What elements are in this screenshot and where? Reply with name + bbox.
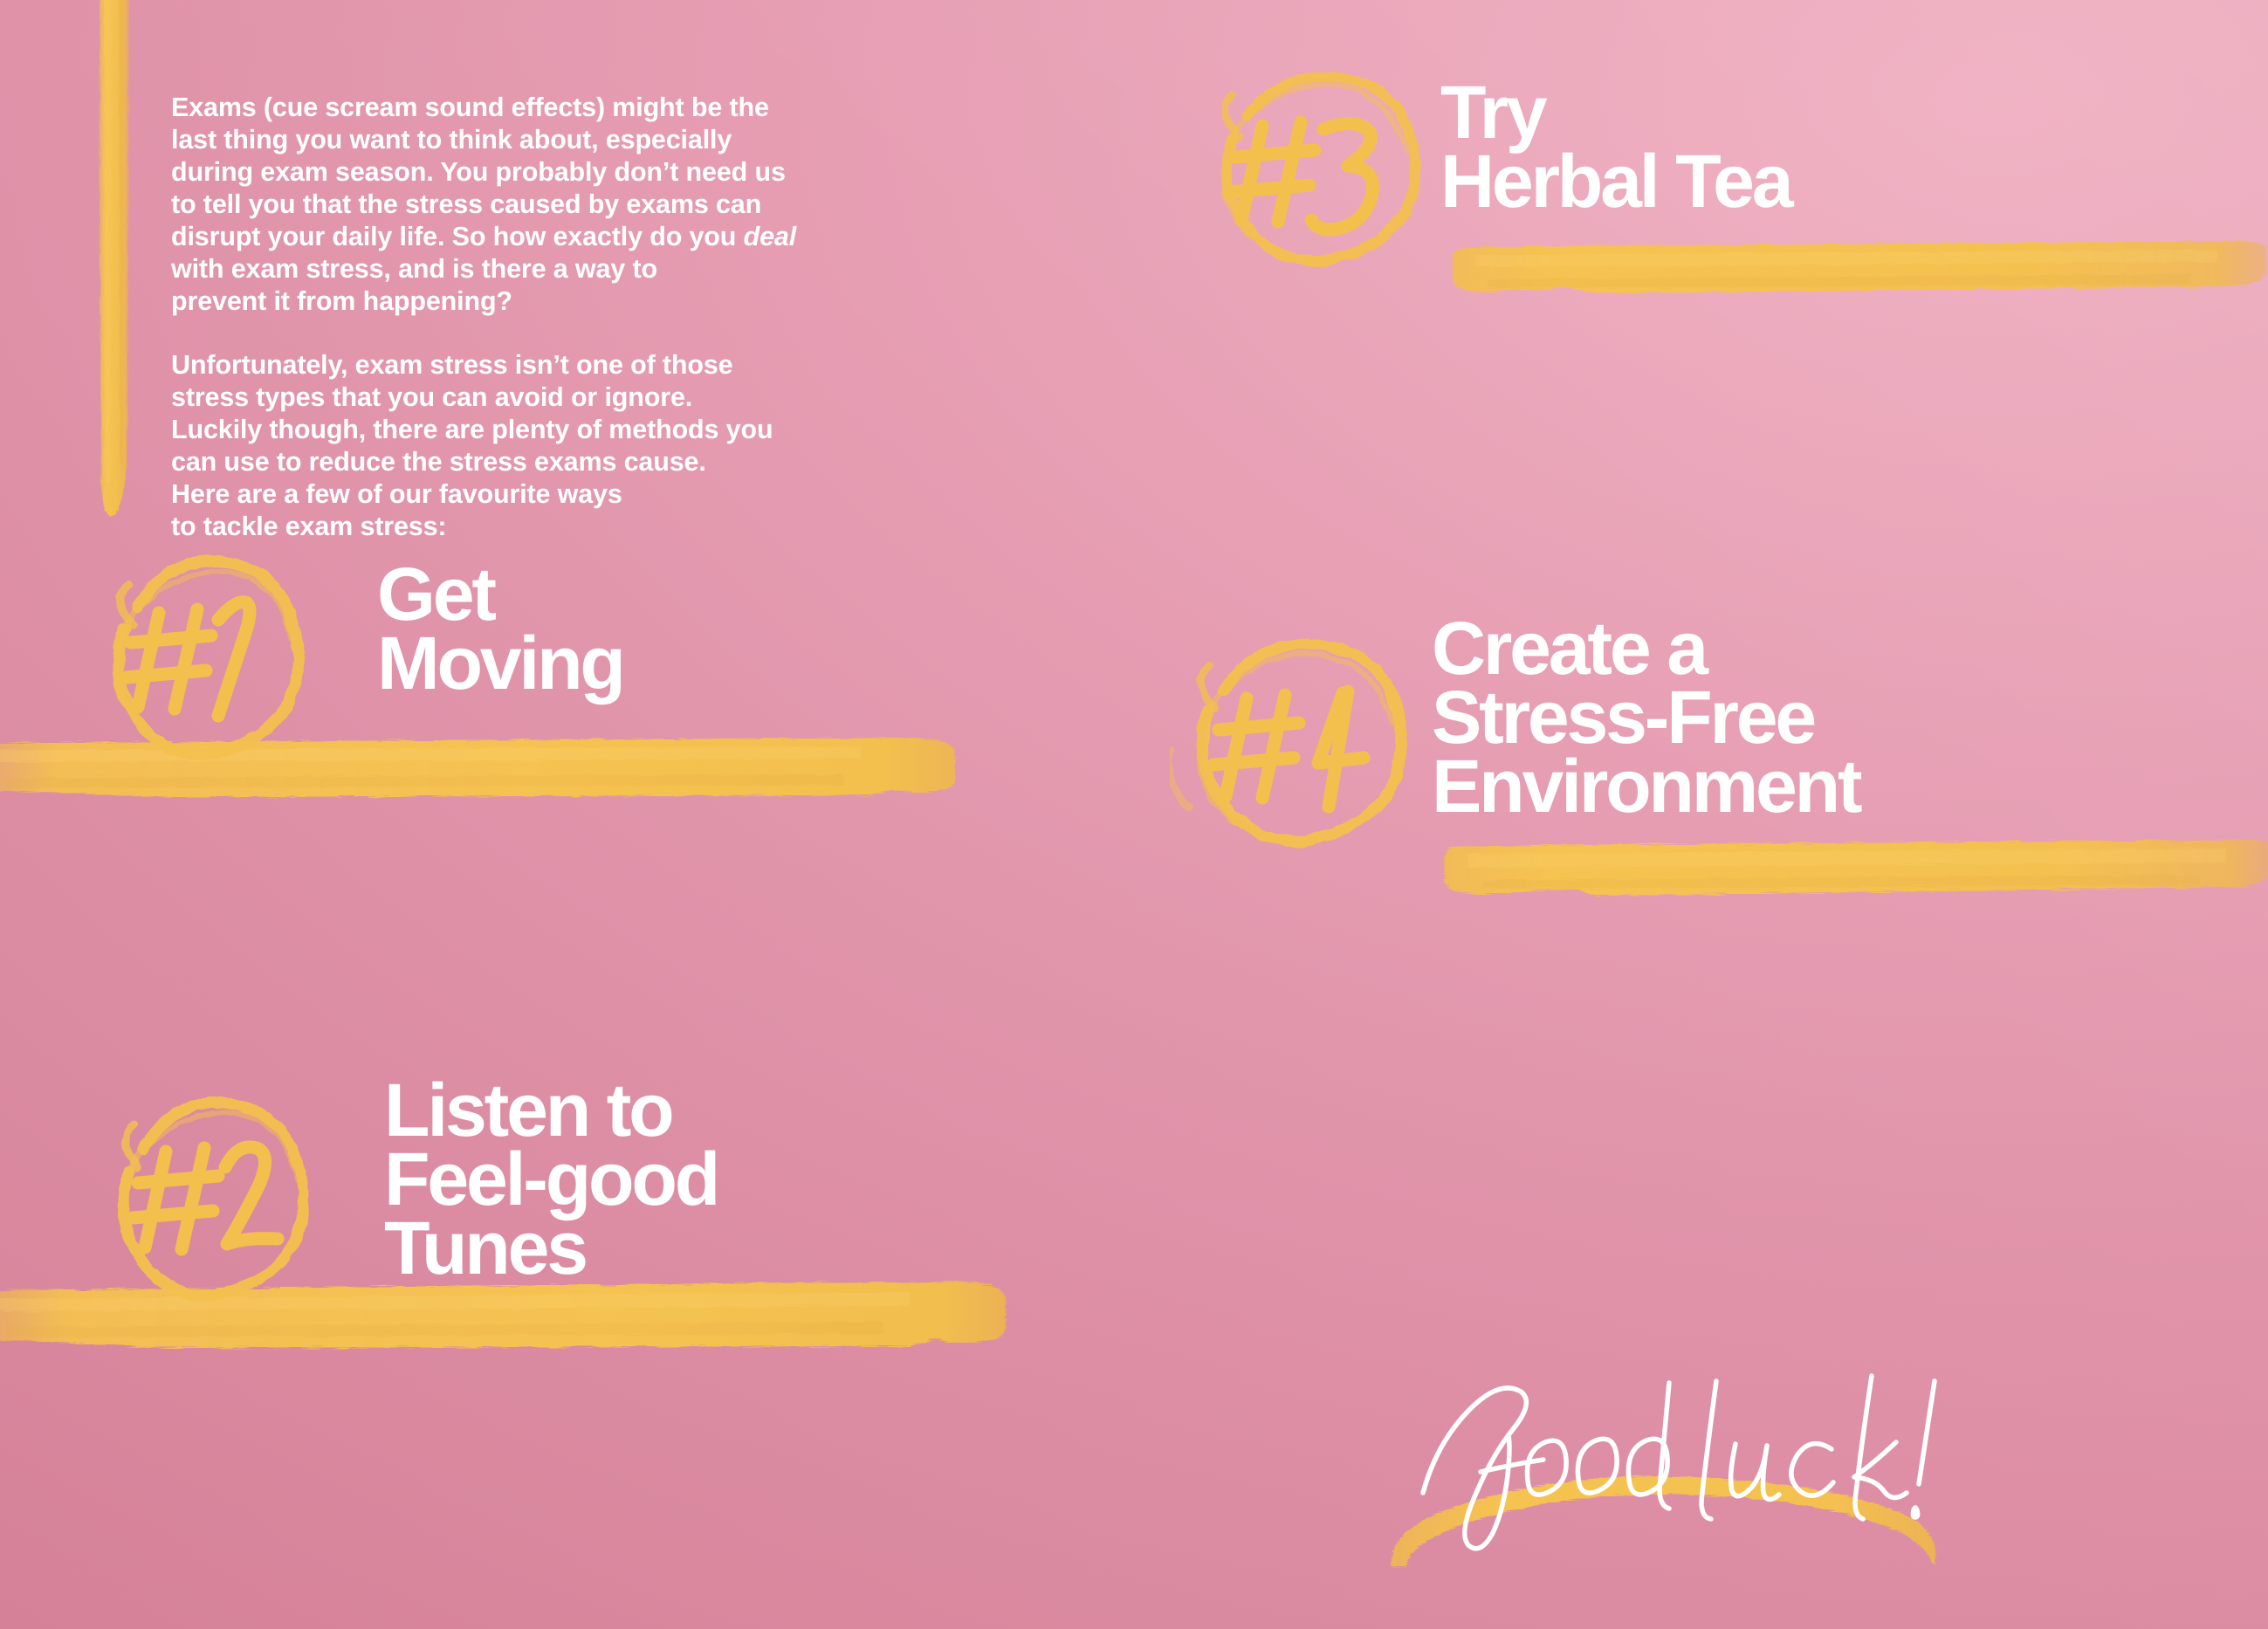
tip-title-1: Get Moving — [377, 560, 1006, 698]
intro-paragraph-1-part-2: with exam stress, and is there a way to … — [171, 254, 657, 316]
intro-paragraph-2: Unfortunately, exam stress isn’t one of … — [171, 349, 1053, 543]
tip-card-1: Get Moving — [0, 550, 1048, 803]
intro-paragraph-1: Exams (cue scream sound effects) might b… — [171, 92, 1053, 318]
poster-canvas: Exams (cue scream sound effects) might b… — [0, 0, 2268, 1629]
intro-paragraph-1-emphasis: deal — [744, 222, 796, 251]
tip-title-4: Create a Stress-Free Environment — [1432, 615, 2268, 821]
badge-number-2 — [119, 1106, 304, 1291]
intro-paragraph-1-part-1: Exams (cue scream sound effects) might b… — [171, 93, 786, 251]
tip-card-3: Try Herbal Tea — [1179, 70, 2268, 314]
badge-circle-3-icon — [1191, 63, 1442, 276]
badge-circle-1-icon — [87, 546, 323, 773]
tip-title-2: Listen to Feel-good Tunes — [384, 1076, 1048, 1283]
brush-underline-4-icon — [1440, 828, 2268, 904]
tip-card-4: Create a Stress-Free Environment — [1161, 594, 2268, 908]
tip-title-3: Try Herbal Tea — [1440, 79, 2261, 217]
badge-number-4 — [1198, 651, 1392, 840]
badge-number-1 — [113, 567, 297, 751]
badge-number-3 — [1215, 84, 1402, 264]
badge-circle-4-icon — [1170, 629, 1432, 859]
brush-underline-3-icon — [1449, 229, 2268, 304]
tip-card-2: Listen to Feel-good Tunes — [0, 1043, 1091, 1366]
brush-underline-1-icon — [0, 729, 966, 809]
badge-circle-2-icon — [94, 1085, 330, 1314]
